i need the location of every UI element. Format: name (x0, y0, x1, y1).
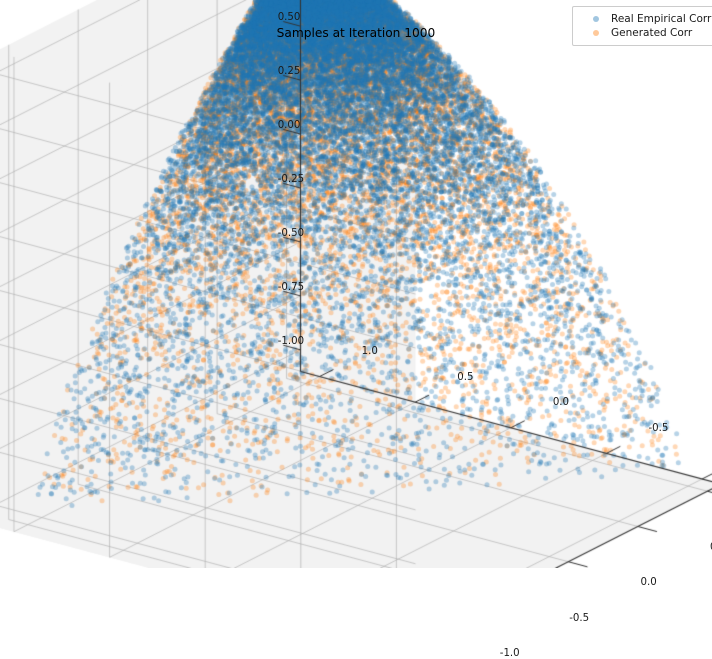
axis-tick-label: -0.5 (569, 613, 589, 624)
axis-tick-label: 1.0 (362, 346, 378, 357)
axis-tick-label: -0.25 (278, 174, 304, 185)
legend-item-real-empirical-corr[interactable]: Real Empirical Corr (581, 12, 712, 26)
figure-canvas-container: Samples at Iteration 1000 Real Empirical… (0, 0, 712, 568)
axis-tick-label: 0.00 (278, 120, 301, 131)
axis-tick-label: 0.5 (457, 372, 473, 383)
legend-marker-real-icon (581, 16, 611, 22)
scatter3d-plot-canvas[interactable] (0, 0, 712, 568)
axis-tick-label: 0.25 (278, 66, 301, 77)
axis-tick-label: -0.50 (278, 228, 304, 239)
axis-tick-label: -1.00 (278, 336, 304, 347)
legend-label-generated: Generated Corr (611, 27, 692, 39)
legend-label-real: Real Empirical Corr (611, 13, 711, 25)
axis-tick-label: 0.0 (553, 397, 569, 408)
axis-tick-label: -0.75 (278, 282, 304, 293)
axis-tick-label: -1.0 (500, 648, 520, 659)
legend-marker-generated-icon (581, 30, 611, 36)
axis-tick-label: -0.5 (648, 423, 668, 434)
axis-tick-label: 0.0 (641, 577, 657, 588)
axis-tick-label: 0.50 (278, 12, 301, 23)
legend-box[interactable]: Real Empirical Corr Generated Corr (572, 6, 712, 46)
page-title: Samples at Iteration 1000 (186, 26, 526, 40)
legend-item-generated-corr[interactable]: Generated Corr (581, 26, 712, 40)
